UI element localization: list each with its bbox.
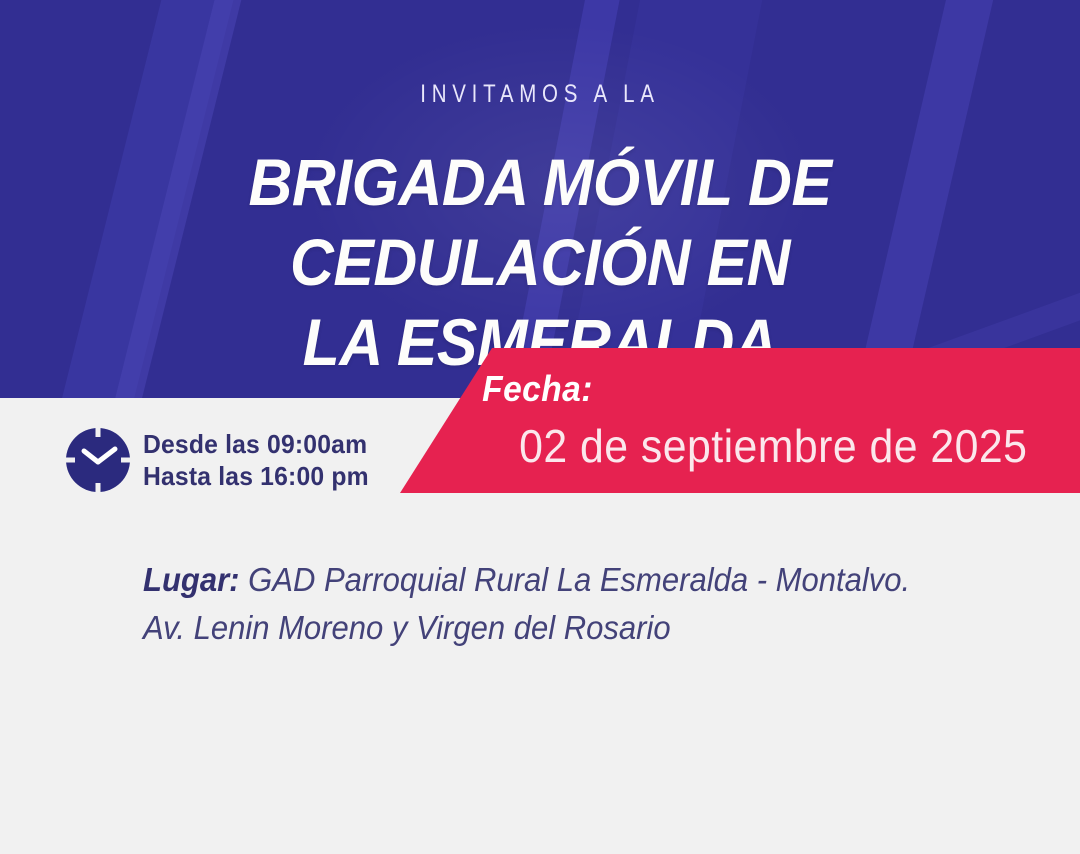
schedule-to: Hasta las 16:00 pm xyxy=(143,460,369,492)
page-title: BRIGADA MÓVIL DE CEDULACIÓN EN LA ESMERA… xyxy=(43,142,1037,382)
poster-canvas: INVITAMOS A LA BRIGADA MÓVIL DE CEDULACI… xyxy=(0,0,1080,854)
place-label: Lugar: xyxy=(143,561,240,598)
date-value: 02 de septiembre de 2025 xyxy=(519,419,1027,473)
kicker-text: INVITAMOS A LA xyxy=(97,80,983,109)
schedule-text: Desde las 09:00am Hasta las 16:00 pm xyxy=(143,428,369,492)
place-line-1-text: GAD Parroquial Rural La Esmeralda - Mont… xyxy=(240,561,911,598)
place-line-1: Lugar: GAD Parroquial Rural La Esmeralda… xyxy=(143,556,989,604)
date-label: Fecha: xyxy=(482,368,593,410)
place-block: Lugar: GAD Parroquial Rural La Esmeralda… xyxy=(143,556,989,652)
headline-line-1: BRIGADA MÓVIL DE CEDULACIÓN EN xyxy=(43,142,1037,302)
footer-logo-bar: EL NUEVO ECUADOR RESUELVE Dirección Gene… xyxy=(0,700,1080,854)
clock-icon xyxy=(63,425,133,495)
place-line-2: Av. Lenin Moreno y Virgen del Rosario xyxy=(143,604,989,652)
schedule-from: Desde las 09:00am xyxy=(143,428,369,460)
